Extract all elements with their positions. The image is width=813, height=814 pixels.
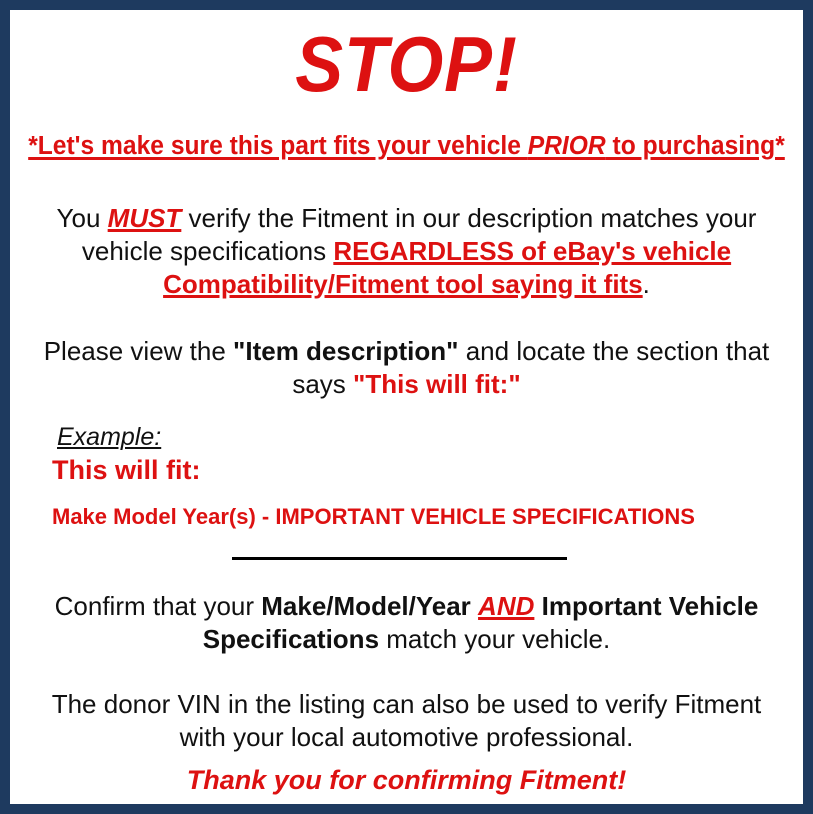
subtitle-emphasis-prior: PRIOR bbox=[528, 132, 606, 160]
subtitle-prefix: *Let's make sure this part fits your veh… bbox=[28, 132, 528, 160]
paragraph-must-verify: You MUST verify the Fitment in our descr… bbox=[34, 202, 779, 301]
closing-thank-you: Thank you for confirming Fitment! bbox=[10, 765, 803, 796]
confirm-part-4: match your vehicle. bbox=[379, 624, 610, 654]
fitment-warning-poster: STOP! *Let's make sure this part fits yo… bbox=[0, 0, 813, 814]
paragraph-item-description: Please view the "Item description" and l… bbox=[34, 335, 779, 401]
view-part-1: Please view the bbox=[44, 336, 233, 366]
must-part-3: . bbox=[643, 269, 650, 299]
confirm-emphasis-make-model-year: Make/Model/Year bbox=[261, 591, 471, 621]
confirm-part-2 bbox=[471, 591, 478, 621]
example-spec-line: Make Model Year(s) - IMPORTANT VEHICLE S… bbox=[52, 504, 695, 530]
confirm-part-3 bbox=[534, 591, 541, 621]
subtitle-line: *Let's make sure this part fits your veh… bbox=[24, 133, 789, 161]
example-label: Example: bbox=[57, 423, 161, 452]
stop-heading: STOP! bbox=[42, 22, 772, 106]
view-emphasis-item-description: "Item description" bbox=[233, 336, 458, 366]
paragraph-donor-vin: The donor VIN in the listing can also be… bbox=[34, 688, 779, 754]
view-emphasis-this-will-fit: "This will fit:" bbox=[353, 369, 521, 399]
confirm-emphasis-and: AND bbox=[478, 591, 534, 621]
confirm-part-1: Confirm that your bbox=[55, 591, 262, 621]
must-emphasis-must: MUST bbox=[108, 203, 182, 233]
horizontal-divider bbox=[232, 557, 567, 560]
paragraph-confirm: Confirm that your Make/Model/Year AND Im… bbox=[34, 590, 779, 656]
must-part-1: You bbox=[57, 203, 108, 233]
poster-inner-panel: STOP! *Let's make sure this part fits yo… bbox=[10, 10, 803, 804]
example-fit-heading: This will fit: bbox=[52, 455, 201, 486]
subtitle-suffix: to purchasing* bbox=[606, 132, 785, 160]
